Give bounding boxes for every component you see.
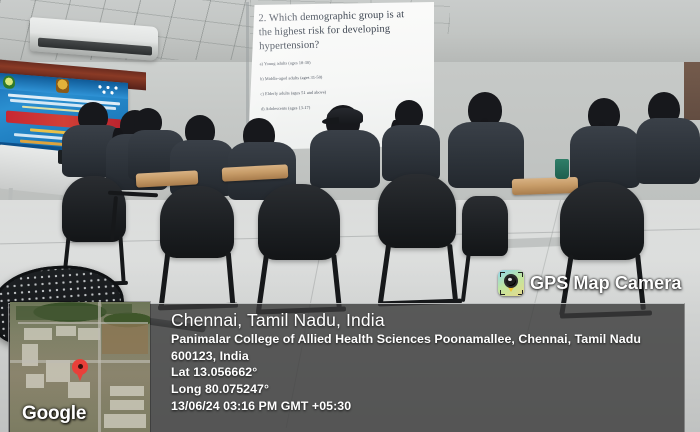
student-torso — [448, 122, 524, 188]
green-cup — [555, 159, 569, 179]
gps-map-thumbnail[interactable]: Google — [10, 302, 150, 432]
map-building — [46, 360, 70, 382]
gps-text-block: Chennai, Tamil Nadu, India Panimalar Col… — [171, 309, 676, 415]
gps-map-camera-photo: 2. Which demographic group is at the hig… — [0, 0, 700, 432]
student-torso — [570, 126, 640, 188]
map-building — [56, 326, 76, 336]
student-torso — [382, 125, 440, 181]
gps-timestamp: 13/06/24 03:16 PM GMT +05:30 — [171, 398, 676, 415]
map-building — [110, 386, 144, 396]
slide-option-a: a) Young adults (ages 18-30) — [260, 57, 424, 67]
desk-writing-tablet — [512, 177, 579, 195]
map-building — [78, 328, 100, 340]
icon-corner-bracket — [518, 272, 523, 277]
map-vegetation — [16, 306, 100, 320]
gps-map-camera-icon — [498, 270, 524, 296]
icon-camera-lens — [504, 274, 518, 288]
student-torso — [636, 118, 700, 184]
chair[interactable] — [378, 174, 456, 248]
chair[interactable] — [258, 184, 340, 260]
gps-latitude: Lat 13.056662° — [171, 364, 676, 381]
banner-emblem-center-icon — [56, 78, 69, 93]
map-building — [68, 382, 90, 398]
ac-vent — [38, 38, 152, 56]
slide-option-b: b) Middle-aged adults (ages 31-50) — [260, 72, 424, 82]
icon-corner-bracket — [518, 290, 523, 295]
gps-city-label: Chennai, Tamil Nadu, India — [171, 309, 676, 331]
map-building — [26, 374, 44, 388]
chair[interactable] — [160, 186, 234, 258]
chair[interactable] — [560, 182, 644, 260]
icon-corner-bracket — [500, 272, 505, 277]
map-location-pin — [72, 359, 88, 381]
banner-emblem-left-icon — [3, 75, 15, 89]
slide-question: 2. Which demographic group is at the hig… — [258, 8, 419, 54]
chair[interactable] — [462, 196, 508, 256]
slide-option-c: c) Elderly adults (ages 51 and above) — [260, 87, 424, 97]
gps-brand-label: GPS Map Camera — [530, 273, 681, 294]
google-watermark: Google — [22, 403, 86, 425]
map-road — [18, 322, 148, 324]
gps-address-line1: Panimalar College of Allied Health Scien… — [171, 331, 676, 348]
icon-corner-bracket — [500, 290, 505, 295]
map-building — [24, 328, 52, 340]
gps-map-camera-branding: GPS Map Camera — [498, 270, 681, 296]
pin-dot — [78, 364, 83, 369]
map-vegetation — [102, 304, 132, 314]
banner-dots-decoration — [96, 84, 122, 97]
map-building — [110, 400, 144, 410]
gps-longitude: Long 80.075247° — [171, 381, 676, 398]
gps-address-line2: 600123, India — [171, 348, 676, 365]
map-open-land — [102, 324, 148, 354]
map-building — [104, 414, 146, 428]
student-torso — [310, 130, 380, 188]
